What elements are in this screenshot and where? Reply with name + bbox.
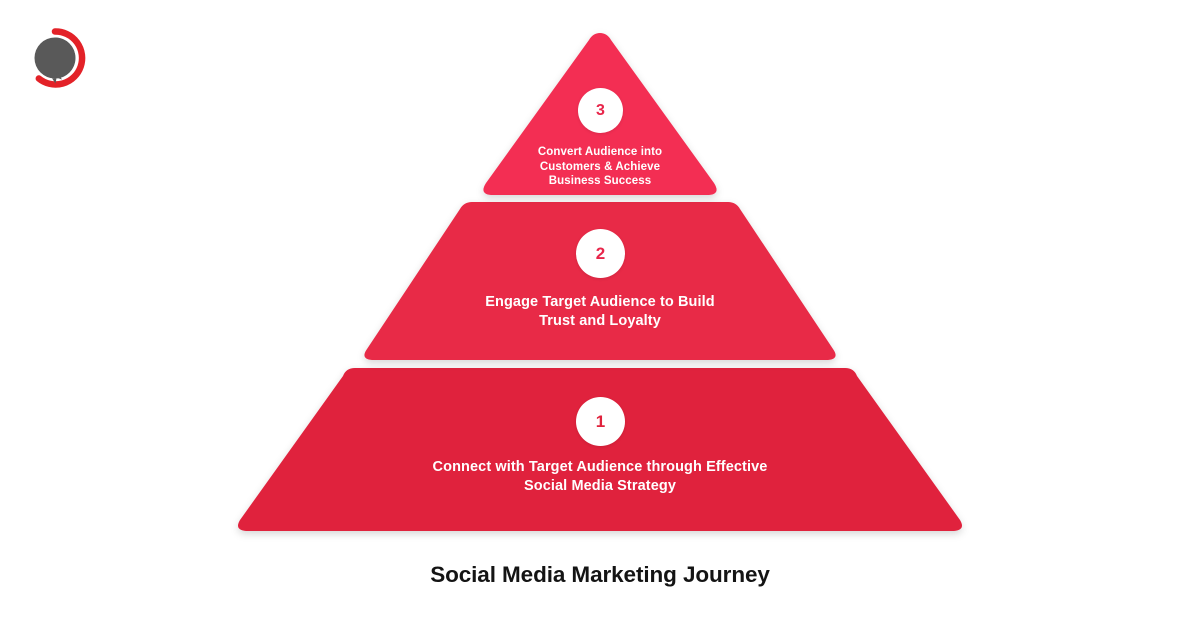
pyramid-chart: 3 2 1 Convert Audience into Customers & …: [0, 0, 1200, 560]
level-3-number-badge[interactable]: 3: [578, 88, 623, 133]
level-2-number-badge[interactable]: 2: [576, 229, 625, 278]
level-3-number: 3: [596, 102, 605, 120]
level-1-number: 1: [596, 412, 605, 432]
pyramid-level-2[interactable]: [364, 202, 835, 360]
pyramid-level-1[interactable]: [238, 368, 962, 531]
chart-title: Social Media Marketing Journey: [0, 562, 1200, 588]
level-2-number: 2: [596, 244, 605, 264]
infographic-canvas: 3 2 1 Convert Audience into Customers & …: [0, 0, 1200, 630]
level-1-number-badge[interactable]: 1: [576, 397, 625, 446]
